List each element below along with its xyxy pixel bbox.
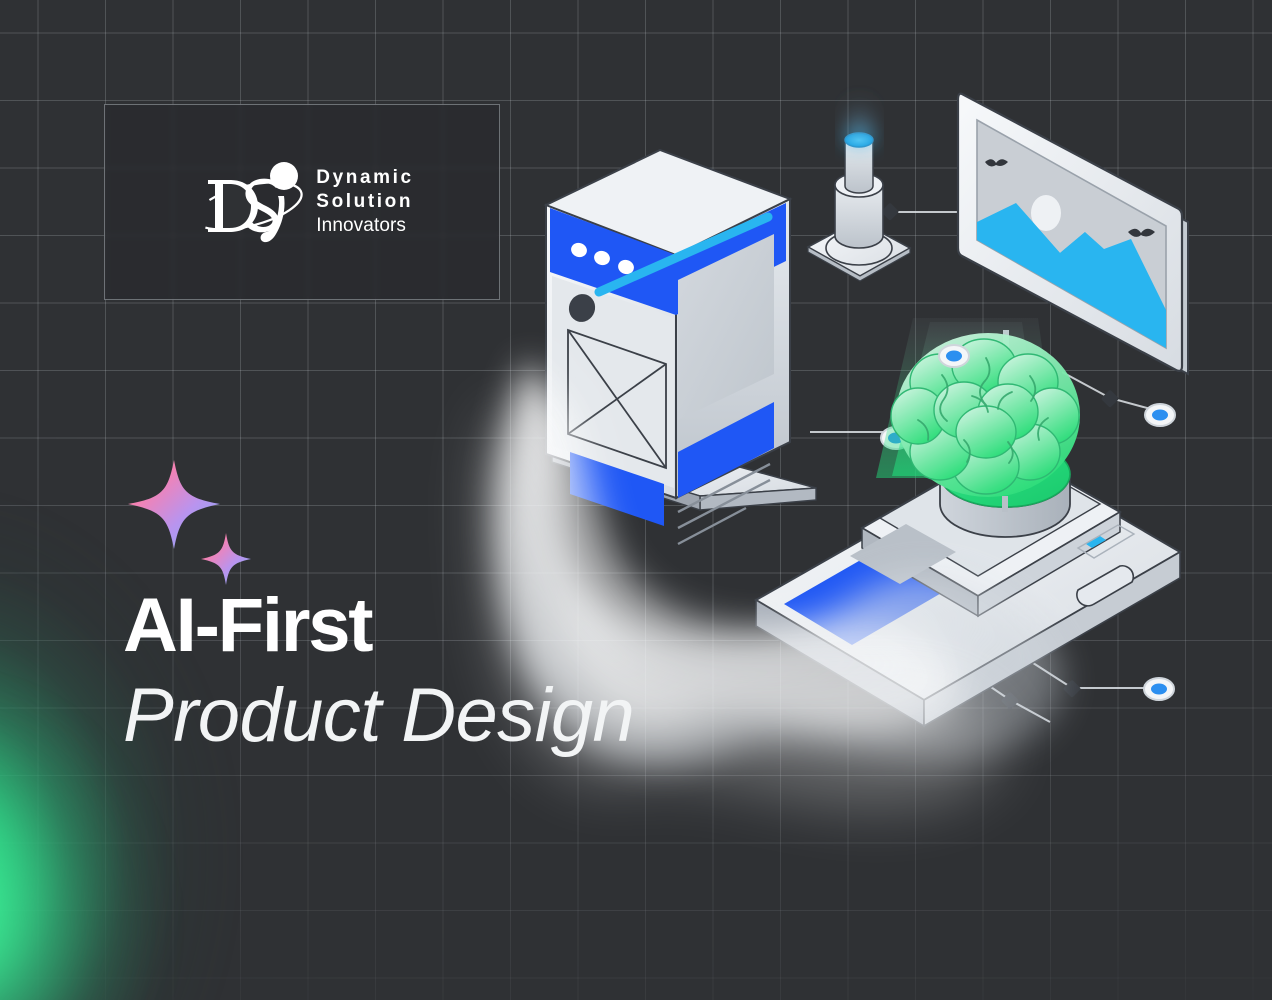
mobile-device-mockup [756,446,1180,726]
connector-node-right [1145,404,1175,426]
logo-line-3: Innovators [316,214,413,238]
connector-lines [808,212,1162,722]
connector-node-bottom [1144,678,1174,700]
headline-line-2: Product Design [123,670,634,763]
headline-block: AI-First Product Design [123,588,634,763]
logo-line-2: Solution [316,190,413,214]
sparkle-group [118,455,298,595]
connector-node-left [939,345,969,367]
headline-line-1: AI-First [123,588,634,664]
image-placeholder-monitor [958,94,1188,428]
holographic-brain [891,333,1080,497]
sparkle-large-icon [128,460,220,549]
banner-stage: Dynamic Solution Innovators AI-First Pro… [0,0,1272,1000]
dsi-monogram-icon [190,154,310,250]
logo-card: Dynamic Solution Innovators [104,104,500,300]
connector-markers [881,203,1119,710]
glowing-cylinder-pedestal [808,92,910,281]
sparkle-small-icon [201,533,251,585]
logo-wordmark: Dynamic Solution Innovators [316,166,413,239]
hologram-beam [876,318,1060,478]
brain-platform [940,441,1070,537]
browser-window-mockup [546,150,816,544]
logo-line-1: Dynamic [316,166,413,190]
connector-node-brain-top [939,345,969,367]
connector-node-lower-left [881,427,911,449]
